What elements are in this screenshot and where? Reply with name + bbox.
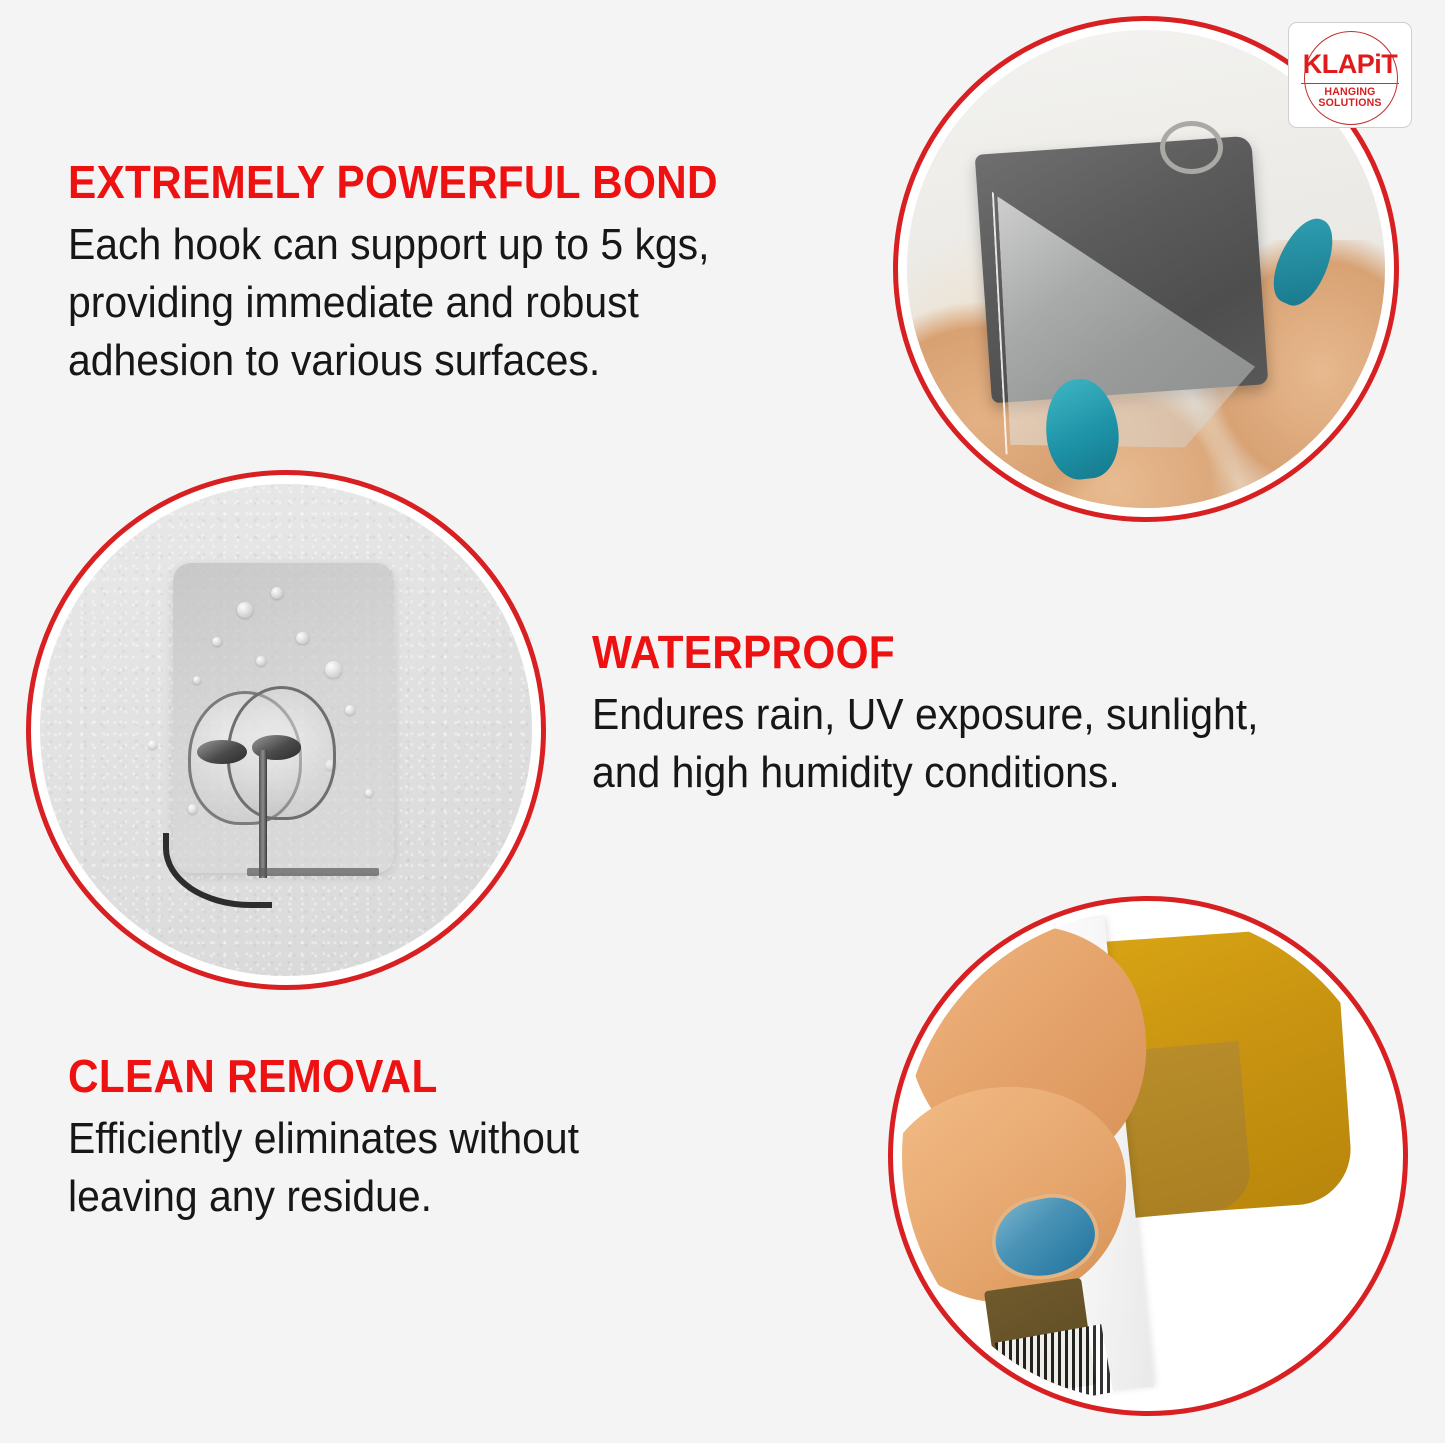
- infographic-canvas: EXTREMELY POWERFUL BOND Each hook can su…: [0, 0, 1445, 1443]
- feature-body-line: and high humidity conditions.: [592, 744, 1383, 802]
- feature-body-waterproof: Endures rain, UV exposure, sunlight, and…: [592, 686, 1383, 802]
- brand-logo: KLAPiT HANGING SOLUTIONS: [1288, 22, 1412, 128]
- pad-bottom-edge: [247, 868, 380, 876]
- metal-ring-icon: [1160, 121, 1223, 174]
- logo-tagline: HANGING SOLUTIONS: [1291, 87, 1408, 109]
- feature-body-line: providing immediate and robust: [68, 274, 840, 332]
- water-droplet: [365, 789, 373, 797]
- feature-block-waterproof: WATERPROOF Endures rain, UV exposure, su…: [592, 628, 1442, 802]
- logo-divider: [1301, 83, 1399, 84]
- feature-body-line: adhesion to various surfaces.: [68, 332, 840, 390]
- water-droplet: [345, 705, 355, 715]
- logo-wordmark: KLAPiT: [1289, 51, 1411, 78]
- water-droplet: [325, 661, 342, 678]
- photo-inner-wet-hook: [40, 484, 532, 976]
- feature-block-clean-removal: CLEAN REMOVAL Efficiently eliminates wit…: [68, 1052, 828, 1226]
- feature-title-waterproof: WATERPROOF: [592, 628, 1374, 676]
- feature-body-line: Each hook can support up to 5 kgs,: [68, 216, 840, 274]
- water-droplet: [188, 804, 198, 814]
- feature-body-line: Endures rain, UV exposure, sunlight,: [592, 686, 1383, 744]
- feature-body-line: leaving any residue.: [68, 1168, 775, 1226]
- water-droplet: [237, 602, 253, 618]
- water-droplet: [296, 632, 309, 645]
- feature-body-extremely-powerful-bond: Each hook can support up to 5 kgs, provi…: [68, 216, 840, 390]
- feature-body-clean-removal: Efficiently eliminates without leaving a…: [68, 1110, 775, 1226]
- photo-fingers-peeling-adhesive-backing: [888, 896, 1408, 1416]
- photo-inner-clean-peel: [902, 910, 1394, 1402]
- photo-wet-hook-on-wall: [26, 470, 546, 990]
- feature-block-extremely-powerful-bond: EXTREMELY POWERFUL BOND Each hook can su…: [68, 158, 898, 391]
- feature-body-line: Efficiently eliminates without: [68, 1110, 775, 1168]
- water-droplet: [148, 740, 157, 749]
- feature-title-clean-removal: CLEAN REMOVAL: [68, 1052, 767, 1100]
- feature-title-extremely-powerful-bond: EXTREMELY POWERFUL BOND: [68, 158, 832, 206]
- hook-knob-left: [197, 740, 246, 765]
- water-droplet: [193, 676, 201, 684]
